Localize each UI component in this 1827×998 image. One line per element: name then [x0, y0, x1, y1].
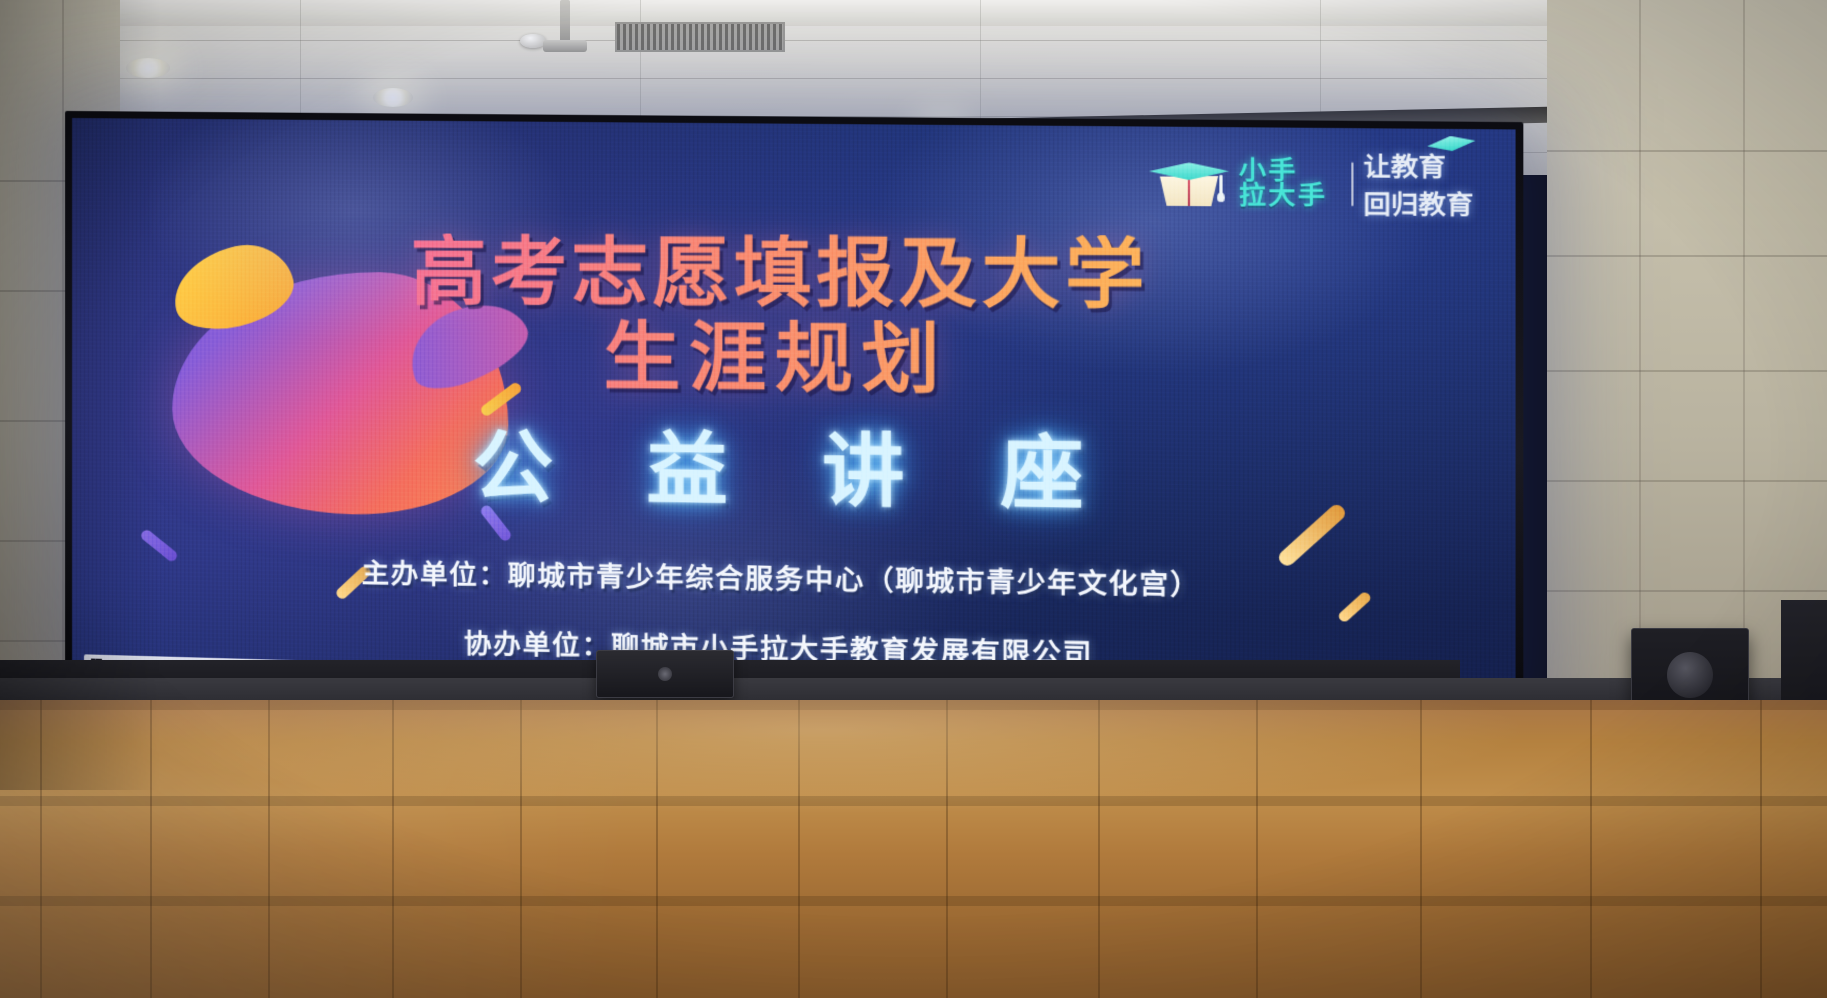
graduation-cap-icon	[1149, 160, 1229, 208]
brand-name: 小手 拉大手	[1239, 159, 1327, 209]
ceiling-downlight-icon	[126, 58, 170, 78]
headline-line-1: 高考志愿填报及大学	[72, 233, 1516, 318]
auditorium-scene: 小手 拉大手 让教育 回归教育 高考志愿填报及大学 生涯规划	[0, 0, 1827, 998]
poster-subhead: 公 益 讲 座	[72, 401, 1516, 532]
led-video-wall[interactable]: 小手 拉大手 让教育 回归教育 高考志愿填报及大学 生涯规划	[72, 118, 1516, 720]
brand-line-2: 拉大手	[1239, 184, 1327, 209]
wood-floor	[0, 700, 1827, 998]
brand-tagline: 让教育 回归教育	[1363, 146, 1473, 222]
brand-logo: 小手 拉大手 让教育 回归教育	[1149, 146, 1474, 222]
headline-line-2: 生涯规划	[72, 316, 1516, 405]
ceiling-downlight-icon	[373, 88, 413, 107]
projector-mount-icon	[543, 40, 587, 52]
subhead-line-1: 公 益 讲 座	[72, 401, 1516, 532]
tagline-line-2: 回归教育	[1363, 191, 1473, 220]
stage-monitor-speaker	[596, 650, 734, 698]
led-screen-surface[interactable]: 小手 拉大手 让教育 回归教育 高考志愿填报及大学 生涯规划	[72, 118, 1516, 720]
poster-headline: 高考志愿填报及大学 生涯规划	[72, 233, 1516, 405]
projector-mount-icon	[560, 0, 570, 44]
tagline-line-1: 让教育	[1363, 153, 1446, 182]
air-vent-icon	[615, 22, 785, 52]
logo-divider	[1351, 162, 1353, 206]
organizer-line: 主办单位：聊城市青少年综合服务中心（聊城市青少年文化宫）	[72, 555, 1516, 606]
